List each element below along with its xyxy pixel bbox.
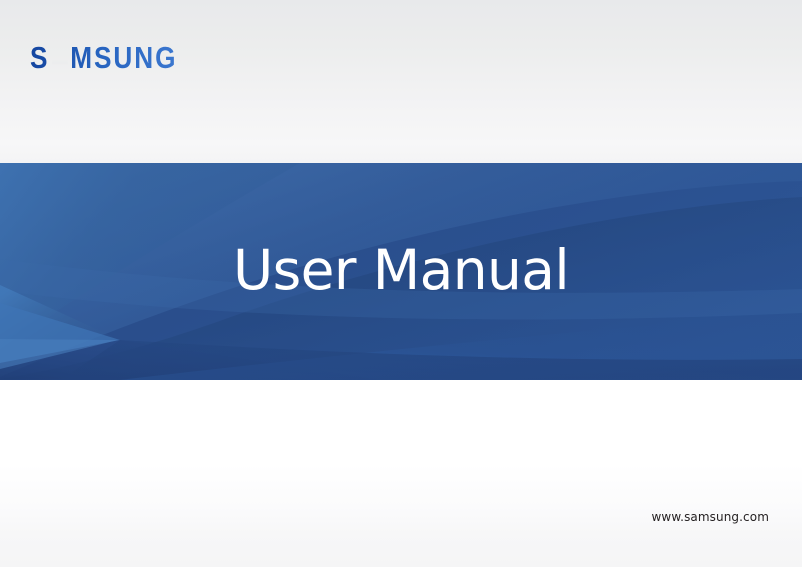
website-url[interactable]: www.samsung.com — [652, 510, 769, 524]
hero-banner: User Manual — [0, 163, 802, 380]
samsung-logo-letter-a: A — [49, 42, 70, 73]
samsung-logo: SAMSUNG — [30, 42, 177, 73]
page-header: SAMSUNG — [0, 0, 802, 163]
page-title: User Manual — [0, 163, 802, 380]
page-footer: www.samsung.com — [0, 380, 802, 567]
manual-cover-page: SAMSUNG — [0, 0, 802, 567]
